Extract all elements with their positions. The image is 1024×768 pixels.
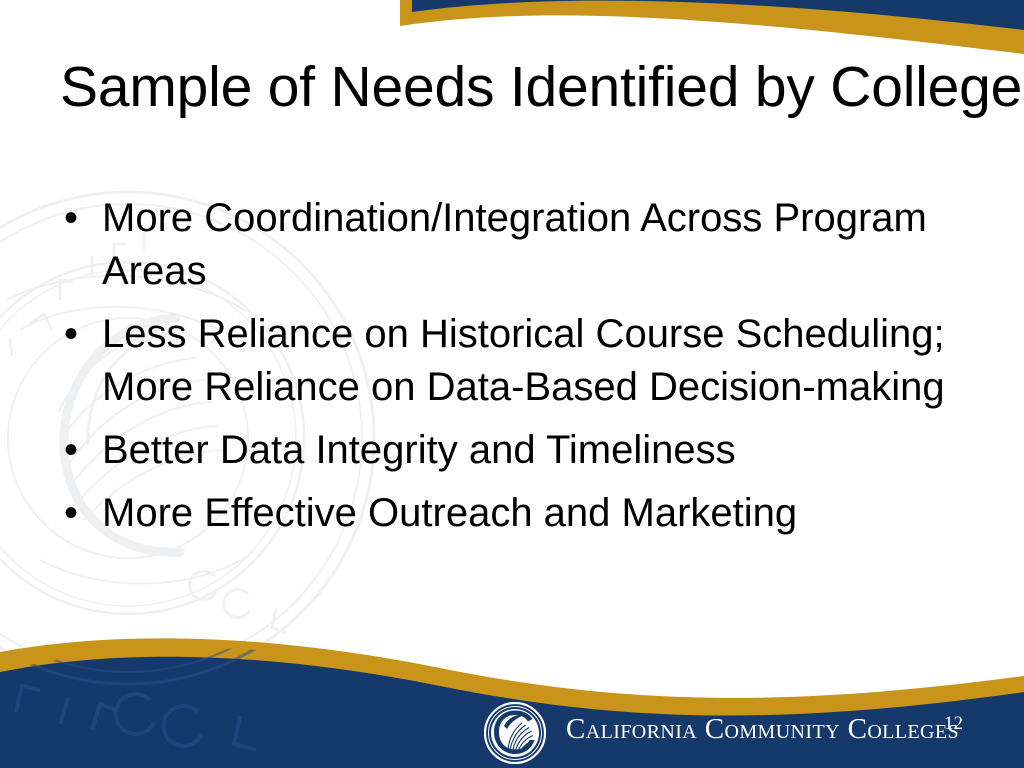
top-wave-gold [400, 0, 1024, 54]
list-item: • More Effective Outreach and Marketing [58, 487, 998, 540]
list-item-label: Less Reliance on Historical Course Sched… [102, 308, 998, 414]
list-item-label: Better Data Integrity and Timeliness [102, 424, 998, 477]
bullet-point-icon: • [64, 308, 78, 361]
slide-canvas: Sample of Needs Identified by Colleges •… [0, 0, 1024, 768]
list-item-label: More Coordination/Integration Across Pro… [102, 192, 998, 298]
list-item: • More Coordination/Integration Across P… [58, 192, 998, 298]
list-item-label: More Effective Outreach and Marketing [102, 487, 998, 540]
slide-title: Sample of Needs Identified by Colleges [60, 55, 980, 119]
top-wave-gold-edge [404, 1, 1024, 48]
footer-wordmark: California Community Colleges [566, 713, 959, 745]
bullet-list: • More Coordination/Integration Across P… [58, 192, 998, 550]
list-item: • Better Data Integrity and Timeliness [58, 424, 998, 477]
slide-number: 12 [944, 714, 963, 734]
bullet-point-icon: • [64, 487, 78, 540]
list-item: • Less Reliance on Historical Course Sch… [58, 308, 998, 414]
top-wave-navy [412, 0, 1024, 30]
bullet-point-icon: • [64, 424, 78, 477]
bullet-point-icon: • [64, 192, 78, 245]
california-community-colleges-seal-icon [484, 702, 546, 764]
